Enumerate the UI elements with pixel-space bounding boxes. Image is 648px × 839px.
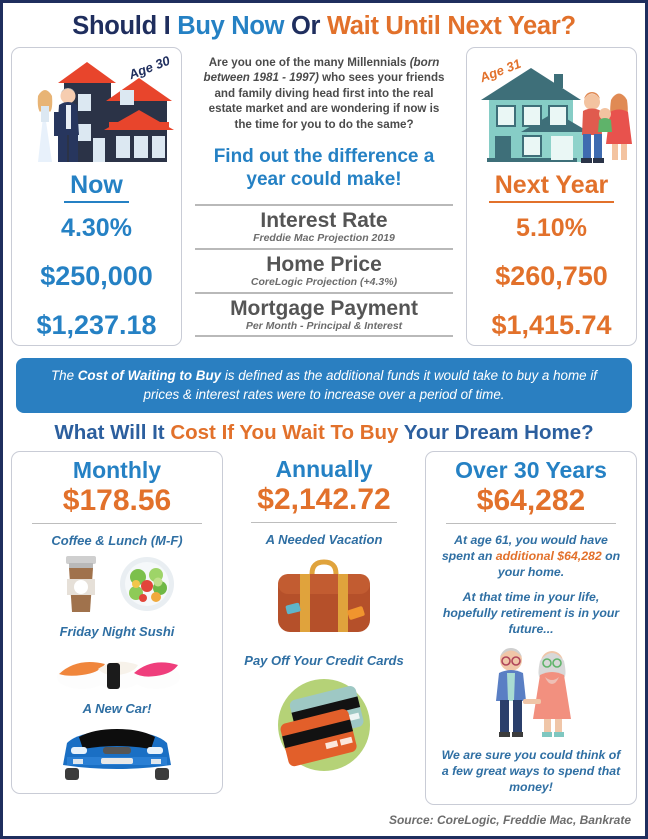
monthly-card: Monthly $178.56 Coffee & Lunch (M-F)	[11, 451, 223, 794]
metric-subtitle: Freddie Mac Projection 2019	[195, 232, 453, 244]
over-30-years-amount: $64,282	[432, 484, 630, 518]
intro-paragraph: Are you one of the many Millennials (bor…	[195, 49, 453, 132]
annually-item-label-credit-cards: Pay Off Your Credit Cards	[237, 653, 411, 668]
banner-text-b: Cost of Waiting to Buy	[78, 368, 221, 383]
new-car-art	[18, 721, 216, 785]
divider	[446, 523, 616, 524]
over-30-years-note-1: At age 61, you would have spent an addit…	[432, 533, 630, 581]
over-30-years-note-2: At that time in your life, hopefully ret…	[432, 590, 630, 638]
coffee-lunch-art	[18, 553, 216, 615]
retired-couple-icon	[471, 643, 591, 739]
annually-card: Annually $2,142.72 A Needed Vacation Pay…	[231, 451, 417, 785]
headline-part-4: Wait Until Next Year?	[327, 12, 576, 40]
cost-breakdown-section: Monthly $178.56 Coffee & Lunch (M-F)	[3, 451, 645, 809]
source-citation: Source: CoreLogic, Freddie Mac, Bankrate	[3, 809, 645, 827]
monthly-title: Monthly	[18, 458, 216, 483]
metric-home-price: Home Price CoreLogic Projection (+4.3%)	[195, 248, 453, 288]
metric-mortgage-payment: Mortgage Payment Per Month - Principal &…	[195, 292, 453, 337]
annually-amount: $2,142.72	[237, 483, 411, 517]
subheadline-part-2: Cost If You Wait To Buy	[170, 421, 403, 444]
middle-column: Are you one of the many Millennials (bor…	[189, 47, 459, 346]
sushi-icon	[52, 644, 182, 692]
metric-title: Mortgage Payment	[195, 297, 453, 320]
metric-subtitle: CoreLogic Projection (+4.3%)	[195, 276, 453, 288]
section-title: What Will It Cost If You Wait To Buy You…	[3, 421, 645, 445]
subheadline-part-1: What Will It	[54, 421, 170, 444]
sushi-art	[18, 644, 216, 692]
annually-item-label-vacation: A Needed Vacation	[237, 532, 411, 547]
now-panel: Age 30	[11, 47, 182, 346]
find-out-callout: Find out the difference a year could mak…	[199, 146, 449, 192]
subheadline-part-3: Your Dream Home?	[404, 421, 594, 444]
now-mortgage-payment: $1,237.18	[16, 312, 177, 339]
now-home-price: $250,000	[16, 263, 177, 290]
over-30-years-title: Over 30 Years	[432, 458, 630, 483]
suitcase-icon	[268, 552, 380, 644]
banner-text-a: The	[51, 368, 78, 383]
metric-title: Interest Rate	[195, 209, 453, 232]
monthly-item-label-sushi: Friday Night Sushi	[18, 624, 216, 639]
comparison-section: Age 30	[3, 47, 645, 346]
metric-interest-rate: Interest Rate Freddie Mac Projection 201…	[195, 204, 453, 244]
annually-title: Annually	[237, 457, 411, 482]
page-title: Should I Buy Now Or Wait Until Next Year…	[3, 12, 645, 41]
next-year-mortgage-payment: $1,415.74	[471, 312, 632, 339]
over-30-years-card: Over 30 Years $64,282 At age 61, you wou…	[425, 451, 637, 805]
headline-part-3: Or	[291, 12, 327, 40]
next-year-home-price: $260,750	[471, 263, 632, 290]
next-year-label: Next Year	[471, 171, 632, 202]
now-illustration: Age 30	[16, 52, 177, 170]
monthly-item-label-new-car: A New Car!	[18, 701, 216, 716]
monthly-amount: $178.56	[18, 484, 216, 518]
credit-cards-icon	[271, 673, 377, 777]
credit-cards-art	[237, 673, 411, 777]
cost-of-waiting-banner: The Cost of Waiting to Buy is defined as…	[16, 358, 632, 413]
coffee-cup-icon	[56, 553, 106, 615]
next-year-interest-rate: 5.10%	[471, 216, 632, 241]
next-year-panel: Age 31	[466, 47, 637, 346]
blue-car-icon	[51, 721, 183, 785]
infographic-page: Should I Buy Now Or Wait Until Next Year…	[0, 0, 648, 839]
metric-subtitle: Per Month - Principal & Interest	[195, 320, 453, 332]
monthly-item-label-coffee-lunch: Coffee & Lunch (M-F)	[18, 533, 216, 548]
metric-title: Home Price	[195, 253, 453, 276]
over-30-years-note-3: We are sure you could think of a few gre…	[432, 748, 630, 796]
retired-couple-art	[432, 643, 630, 739]
divider	[251, 522, 397, 523]
intro-text-a: Are you one of the many Millennials	[209, 56, 410, 69]
salad-bowl-icon	[116, 555, 178, 613]
now-label: Now	[16, 171, 177, 202]
vacation-art	[237, 552, 411, 644]
next-year-illustration: Age 31	[471, 52, 632, 170]
note1-text-b: additional $64,282	[496, 549, 602, 563]
now-interest-rate: 4.30%	[16, 216, 177, 241]
headline-part-2: Buy Now	[177, 12, 291, 40]
headline-part-1: Should I	[72, 12, 177, 40]
divider	[32, 523, 202, 524]
